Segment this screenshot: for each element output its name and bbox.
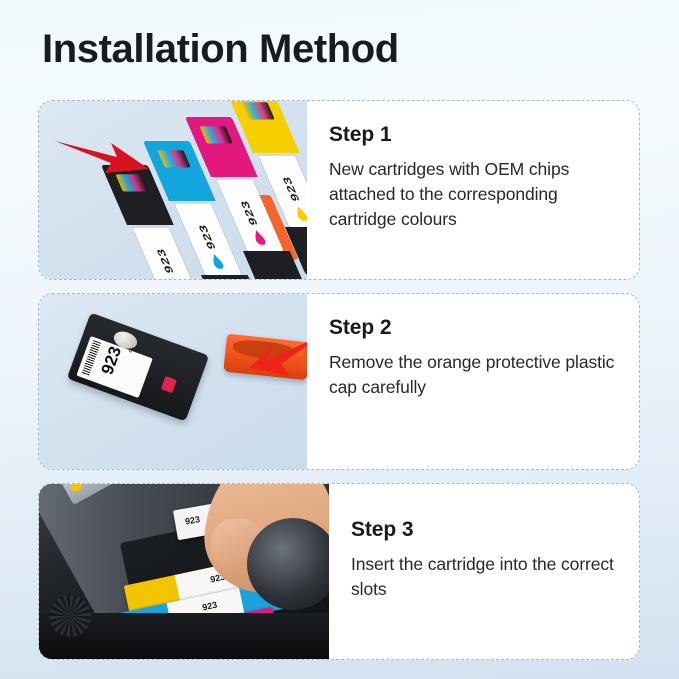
- printer-interior: 923 923 923 923: [39, 484, 329, 659]
- ink-drop-icon: [247, 593, 258, 606]
- step-1-image: 923 923: [39, 101, 307, 279]
- installation-method-page: Installation Method 923: [0, 0, 679, 679]
- step-2-image: 923 COMPATIBLE INK CARTRIDGE: [39, 294, 307, 469]
- step-card-3: 923 923 923 923: [38, 483, 640, 660]
- black-cartridge-illustration: 923 COMPATIBLE INK CARTRIDGE: [67, 313, 209, 422]
- step-card-1: 923 923: [38, 100, 640, 280]
- cartridge-black-number: 923: [149, 239, 180, 279]
- step-2-description: Remove the orange protective plastic cap…: [329, 350, 615, 400]
- step-2-title: Step 2: [329, 316, 615, 340]
- page-title: Installation Method: [42, 26, 399, 72]
- oem-chip-icon: [241, 102, 274, 119]
- cartridge-magenta-number: 923: [233, 191, 264, 235]
- cartridge-cyan-number: 923: [191, 215, 222, 259]
- cartridge-number: 923: [98, 344, 126, 378]
- printer-gear-icon: [49, 595, 91, 637]
- ink-outlet-port: [161, 376, 177, 393]
- step-card-2: 923 COMPATIBLE INK CARTRIDGE Step 2 Remo…: [38, 293, 640, 470]
- oem-chip-icon: [199, 126, 232, 143]
- step-1-text: Step 1 New cartridges with OEM chips att…: [307, 101, 639, 279]
- barcode-icon: [81, 340, 101, 377]
- step-1-title: Step 1: [329, 123, 615, 147]
- step-3-image: 923 923 923 923: [39, 484, 329, 659]
- held-cartridge-number: 923: [184, 514, 201, 526]
- red-arrow-icon: [53, 133, 153, 185]
- red-arrow-icon: [247, 334, 307, 382]
- step-3-title: Step 3: [351, 518, 615, 542]
- cartridge-label: 923 COMPATIBLE INK CARTRIDGE: [76, 336, 152, 398]
- oem-chip-icon: [157, 150, 190, 167]
- printer-roller: [247, 518, 329, 610]
- step-3-description: Insert the cartridge into the correct sl…: [351, 552, 615, 602]
- step-3-text: Step 3 Insert the cartridge into the cor…: [329, 484, 639, 659]
- printer-floor: [39, 613, 329, 659]
- cartridge-yellow-number: 923: [275, 167, 306, 211]
- step-2-text: Step 2 Remove the orange protective plas…: [307, 294, 639, 469]
- step-1-description: New cartridges with OEM chips attached t…: [329, 157, 615, 232]
